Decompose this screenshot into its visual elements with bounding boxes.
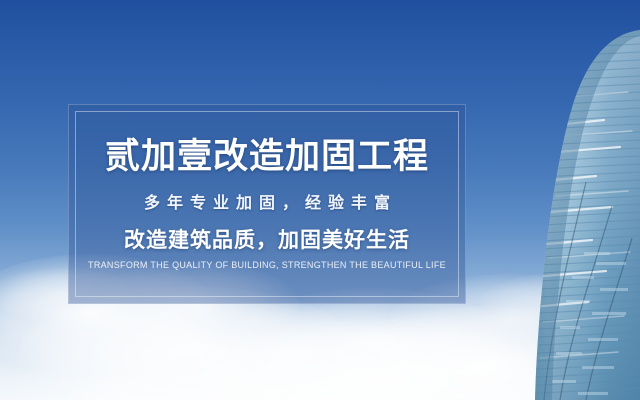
panel-content: 贰加壹改造加固工程 多年专业加固，经验丰富 改造建筑品质，加固美好生活 TRAN… — [68, 104, 466, 304]
hero-banner: 贰加壹改造加固工程 多年专业加固，经验丰富 改造建筑品质，加固美好生活 TRAN… — [0, 0, 640, 400]
banner-tagline: 改造建筑品质，加固美好生活 — [124, 230, 410, 251]
banner-english-tagline: TRANSFORM THE QUALITY OF BUILDING, STREN… — [88, 261, 446, 270]
banner-subline: 多年专业加固，经验丰富 — [137, 196, 397, 212]
text-panel: 贰加壹改造加固工程 多年专业加固，经验丰富 改造建筑品质，加固美好生活 TRAN… — [68, 104, 466, 304]
glass-skyscraper — [500, 0, 640, 400]
banner-headline: 贰加壹改造加固工程 — [105, 139, 429, 174]
skyscraper-illustration — [500, 0, 640, 400]
tower-body — [500, 0, 640, 400]
